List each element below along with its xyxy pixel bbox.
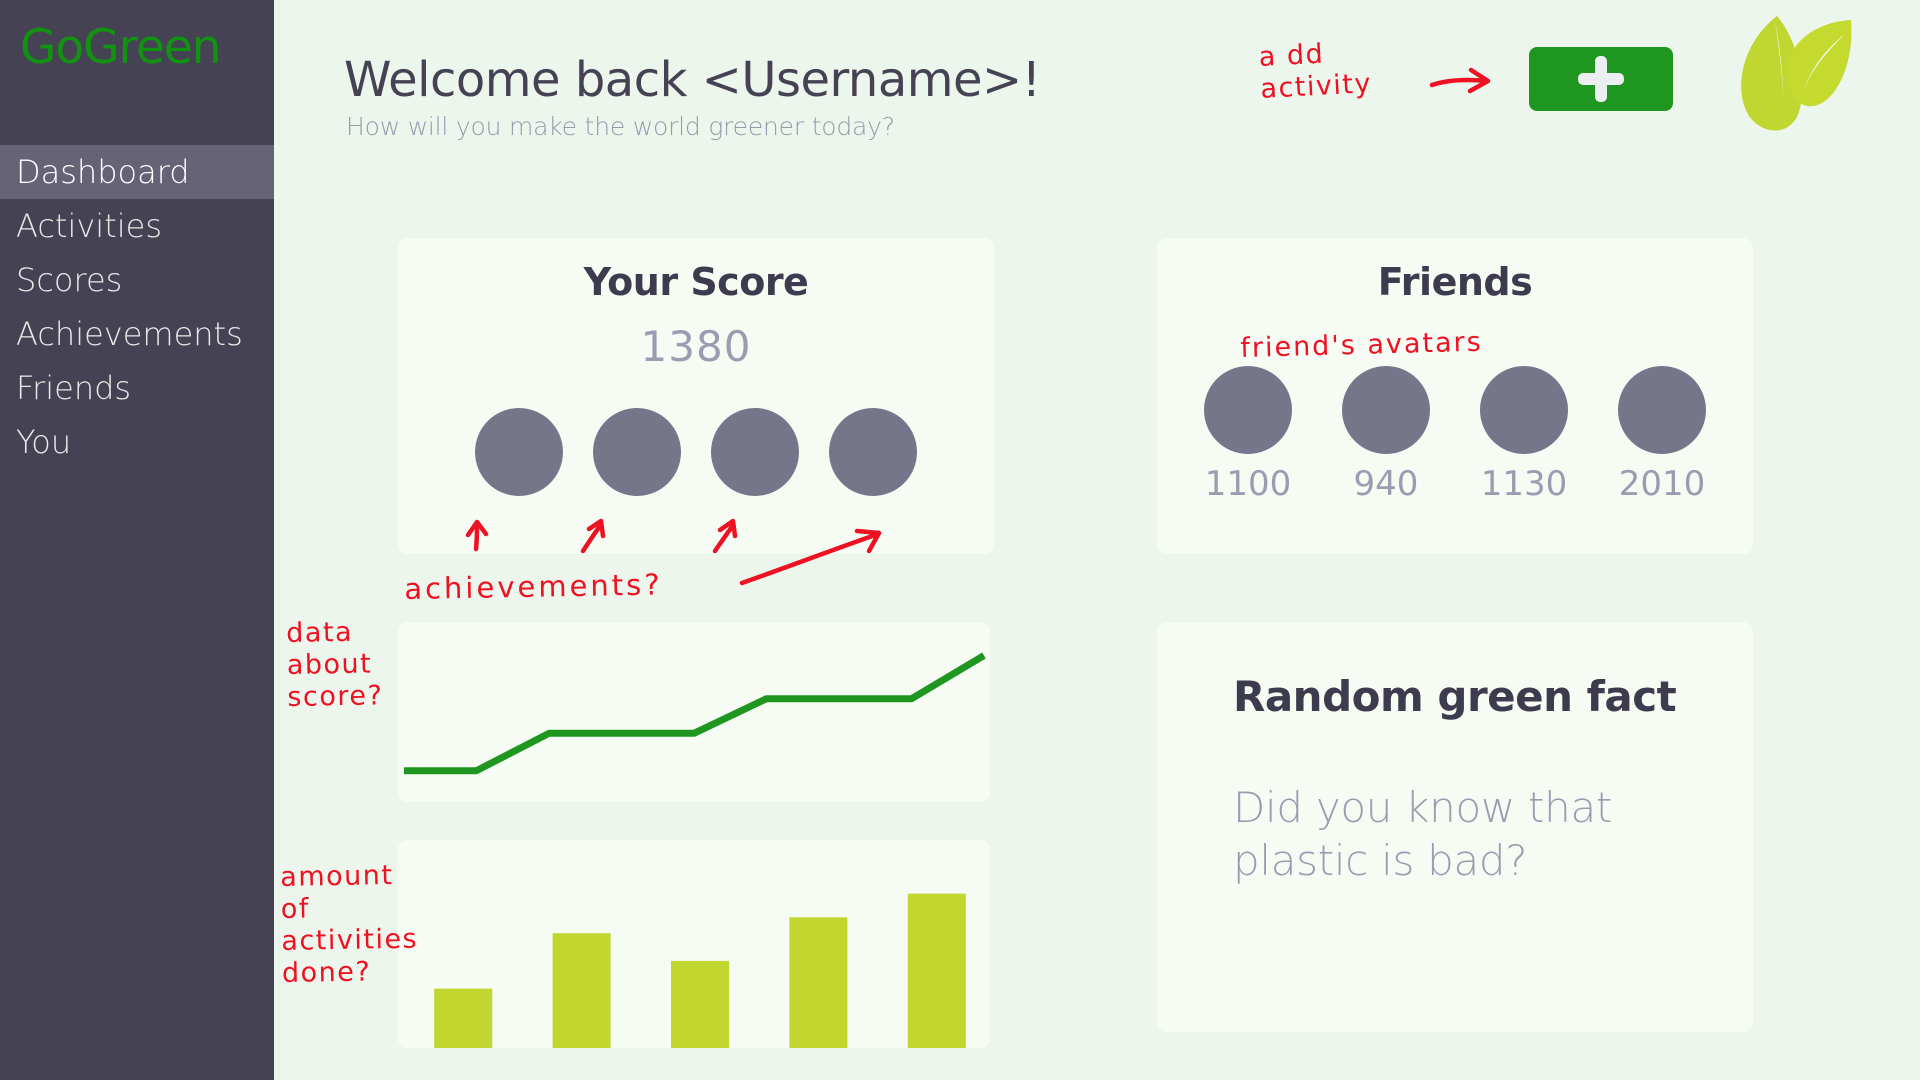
friend-score: 940 [1330,464,1442,504]
list-item[interactable]: 1100 [1192,366,1304,504]
page-subtitle: How will you make the world greener toda… [346,112,895,141]
annotation-add-activity: a dd activity [1258,36,1373,105]
score-line-chart [398,622,990,802]
achievement-badge[interactable] [475,408,563,496]
score-history-chart-card[interactable] [398,622,990,802]
plus-icon [1578,56,1624,102]
avatar [1618,366,1706,454]
sidebar-item-label: Activities [16,207,162,245]
sidebar-item-scores[interactable]: Scores [0,253,274,307]
sidebar-item-achievements[interactable]: Achievements [0,307,274,361]
bar [553,933,611,1048]
sidebar-nav: Dashboard Activities Scores Achievements… [0,145,274,469]
random-fact-card: Random green fact Did you know that plas… [1157,622,1753,1032]
sidebar-item-label: Dashboard [16,153,190,191]
sidebar-item-friends[interactable]: Friends [0,361,274,415]
page-title: Welcome back <Username>! [344,52,1041,108]
score-value: 1380 [398,322,994,371]
activities-bar-chart [398,840,990,1048]
annotation-friend-avatars: friend's avatars [1240,327,1483,365]
achievement-badge[interactable] [829,408,917,496]
friend-score: 2010 [1606,464,1718,504]
sidebar-item-label: Achievements [16,315,243,353]
avatar [1204,366,1292,454]
friends-card-title: Friends [1157,260,1753,304]
friends-card: Friends 1100 940 1130 2010 [1157,238,1753,554]
score-card-title: Your Score [398,260,994,304]
annotation-achievements: achievements? [404,567,663,606]
list-item[interactable]: 1130 [1468,366,1580,504]
friend-score: 1100 [1192,464,1304,504]
activities-chart-card[interactable] [398,840,990,1048]
line-series [404,656,984,771]
brand-logo-text[interactable]: GoGreen [20,24,221,71]
bar [671,961,729,1048]
achievement-badge-row [398,408,994,496]
leaf-logo-icon [1719,8,1859,138]
friends-list: 1100 940 1130 2010 [1157,366,1753,504]
add-activity-button[interactable] [1529,47,1673,111]
sidebar: GoGreen Dashboard Activities Scores Achi… [0,0,274,1080]
fact-card-body: Did you know that plastic is bad? [1233,782,1693,887]
avatar [1480,366,1568,454]
dashboard-app: GoGreen Dashboard Activities Scores Achi… [0,0,1920,1080]
sidebar-item-label: You [16,423,71,461]
annotation-score-data: data about score? [286,616,384,713]
achievement-badge[interactable] [711,408,799,496]
sidebar-item-you[interactable]: You [0,415,274,469]
avatar [1342,366,1430,454]
fact-card-title: Random green fact [1233,672,1676,721]
sidebar-item-activities[interactable]: Activities [0,199,274,253]
bar [434,989,492,1048]
achievement-badge[interactable] [593,408,681,496]
sidebar-item-label: Scores [16,261,122,299]
list-item[interactable]: 2010 [1606,366,1718,504]
friend-score: 1130 [1468,464,1580,504]
sidebar-item-label: Friends [16,369,131,407]
sidebar-item-dashboard[interactable]: Dashboard [0,145,274,199]
annotation-activity-data: amount of activities done? [280,860,419,990]
bar [908,894,966,1048]
list-item[interactable]: 940 [1330,366,1442,504]
score-card: Your Score 1380 [398,238,994,554]
bar [789,917,847,1048]
